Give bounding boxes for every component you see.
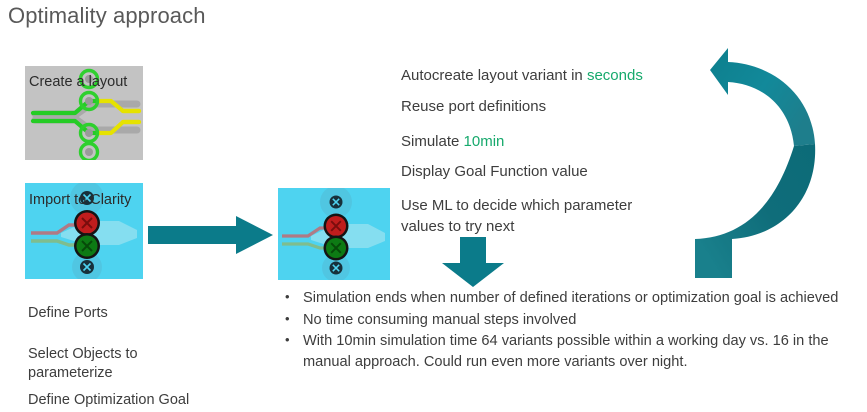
step-text-prefix: Use ML to decide which parameter values …: [401, 197, 632, 235]
step-text-prefix: Reuse port definitions: [401, 98, 546, 115]
slide-canvas: Optimality approach: [0, 0, 867, 412]
clarity-simulation-schematic: [278, 188, 390, 280]
list-item: No time consuming manual steps involved: [278, 310, 864, 331]
step-highlight-10min: 10min: [464, 133, 505, 150]
step-autocreate-layout-variant: Autocreate layout variant in seconds: [401, 66, 643, 86]
thumbnail-caption-create-layout: Create a layout: [29, 74, 127, 90]
list-item: Simulation ends when number of defined i…: [278, 288, 864, 309]
label-define-optimization-goal: Define Optimization Goal: [28, 391, 189, 410]
label-define-ports: Define Ports: [28, 304, 108, 323]
page-title: Optimality approach: [8, 3, 206, 29]
step-text-prefix: Autocreate layout variant in: [401, 67, 587, 84]
list-item: With 10min simulation time 64 variants p…: [278, 331, 864, 372]
step-text-prefix: Display Goal Function value: [401, 163, 588, 180]
bullet-list: Simulation ends when number of defined i…: [278, 288, 864, 373]
thumbnail-clarity-simulation[interactable]: [278, 188, 390, 280]
thumbnail-caption-import-to-clarity: Import to Clarity: [29, 192, 131, 208]
arrow-down-icon: [442, 237, 504, 287]
label-select-objects: Select Objects to parameterize: [28, 345, 138, 383]
step-use-ml-to-decide: Use ML to decide which parameter values …: [401, 195, 641, 237]
circular-arrow-counterclockwise-icon: [686, 48, 861, 283]
step-highlight-seconds: seconds: [587, 67, 643, 84]
step-reuse-port-definitions: Reuse port definitions: [401, 97, 546, 117]
arrow-right-icon: [148, 216, 273, 254]
step-display-goal-function-value: Display Goal Function value: [401, 162, 588, 182]
step-text-prefix: Simulate: [401, 133, 464, 150]
step-simulate: Simulate 10min: [401, 132, 504, 152]
